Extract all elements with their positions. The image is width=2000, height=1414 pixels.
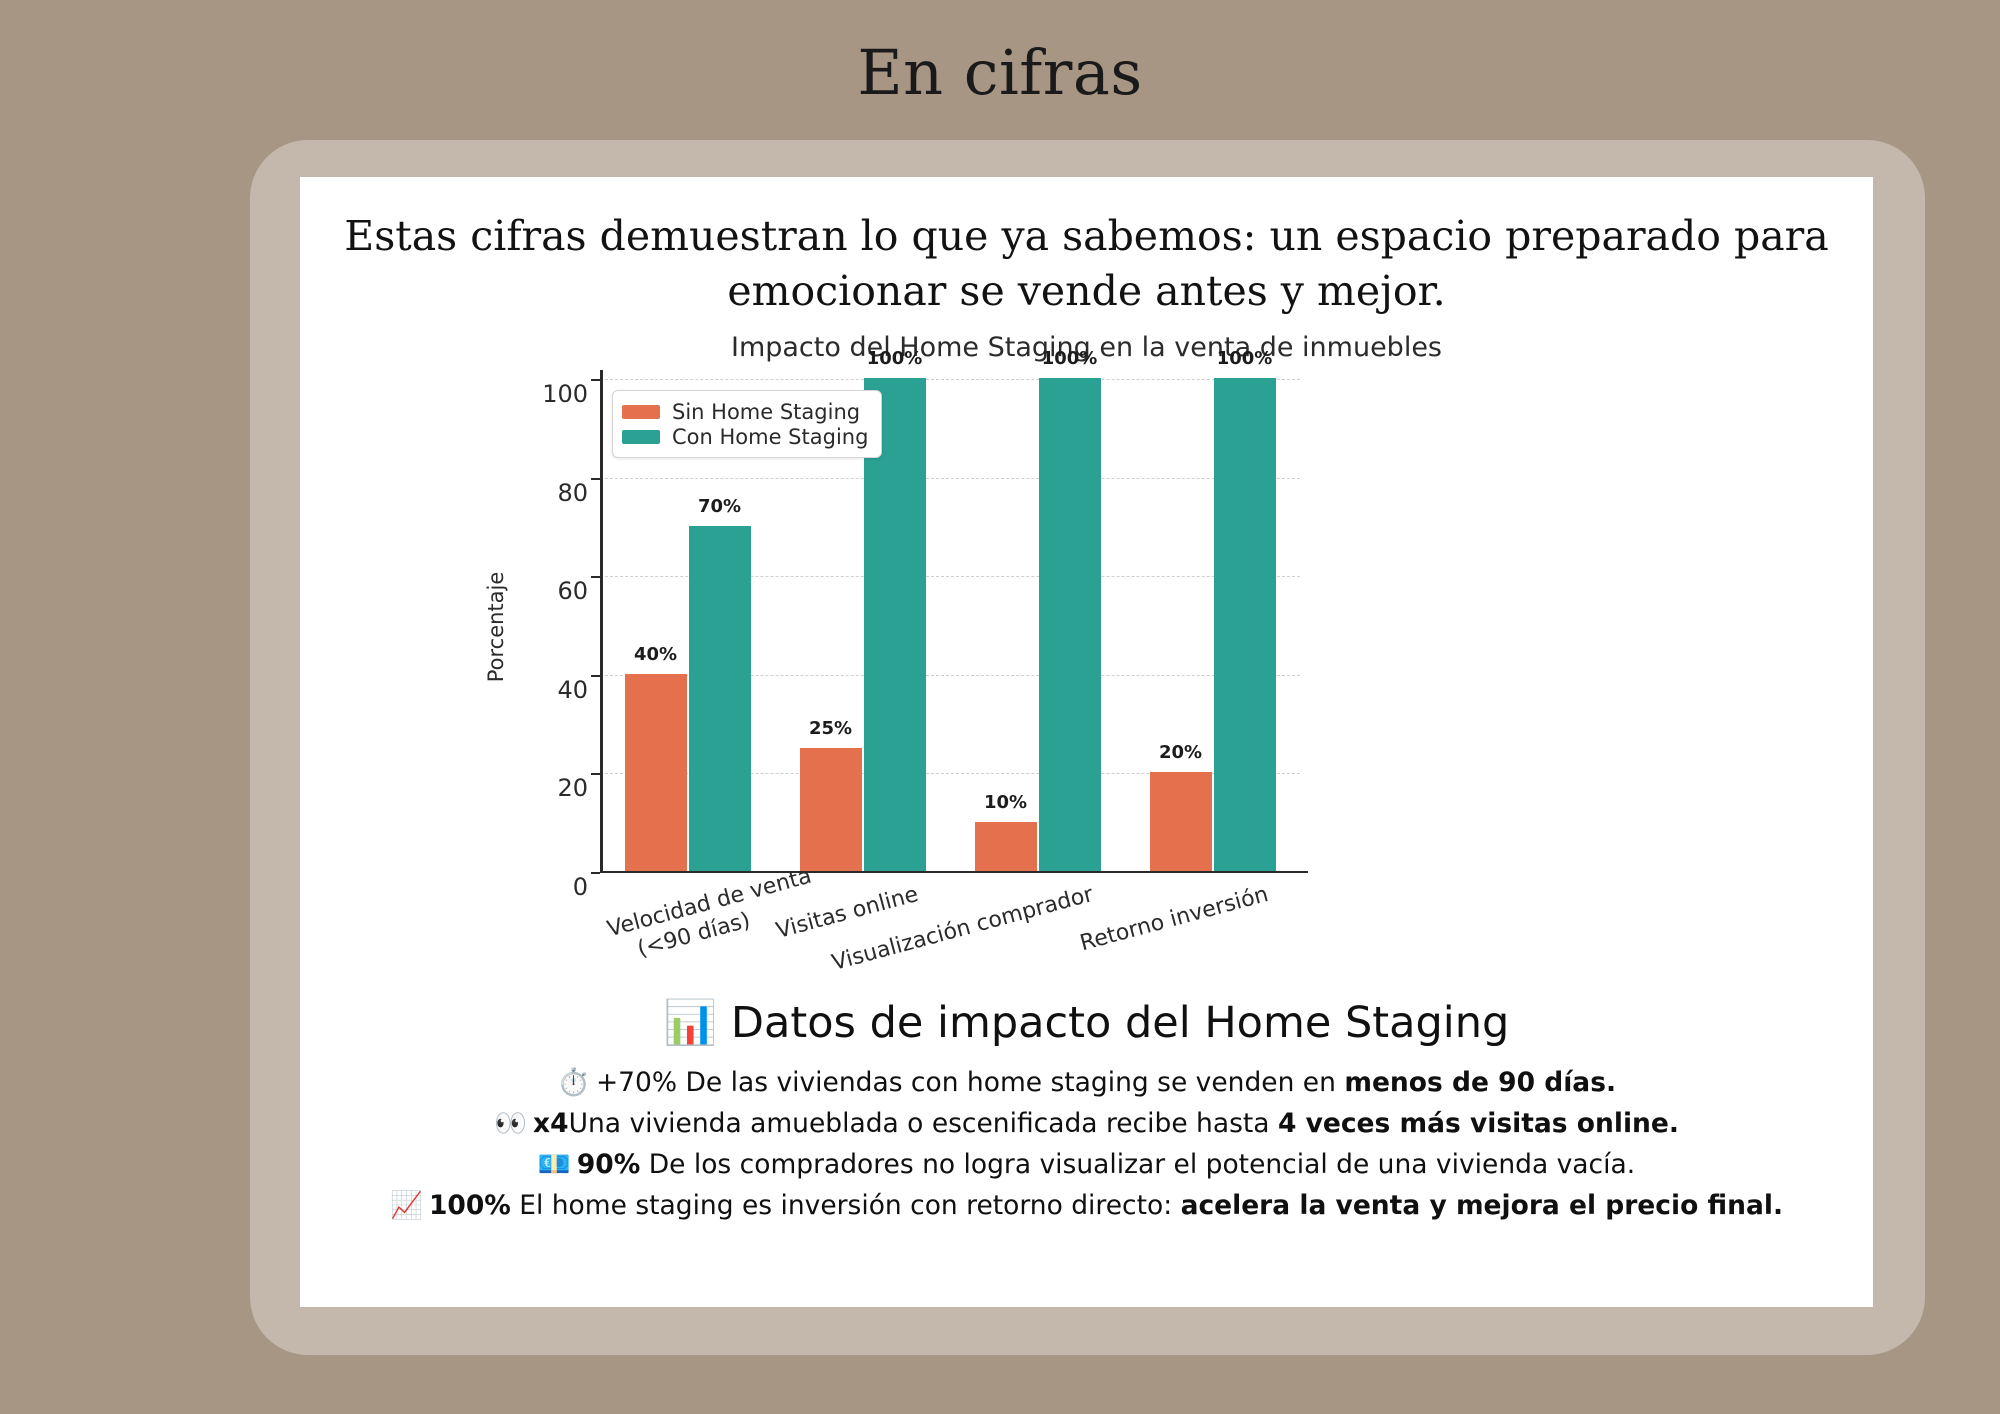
x-axis-spine [600, 871, 1308, 874]
gridline [600, 379, 1300, 380]
fact-lead-value: +70% [596, 1067, 677, 1098]
legend-label: Con Home Staging [672, 425, 868, 449]
fact-emoji-icon: 💶 [538, 1149, 571, 1180]
bar: 100% [1039, 378, 1101, 871]
legend-swatch-icon [622, 405, 660, 419]
bar: 25% [800, 748, 862, 871]
fact-emphasis: menos de 90 días. [1344, 1067, 1616, 1098]
facts-heading: 📊 Datos de impacto del Home Staging [300, 997, 1873, 1051]
facts-heading-text: Datos de impacto del Home Staging [731, 998, 1509, 1048]
lede-text: Estas cifras demuestran lo que ya sabemo… [340, 209, 1833, 318]
facts-list: ⏱️+70% De las viviendas con home staging… [300, 1065, 1873, 1224]
page-title: En cifras [0, 42, 2000, 104]
chart-legend: Sin Home Staging Con Home Staging [612, 390, 882, 458]
y-tick-mark [591, 773, 600, 775]
content-card: Estas cifras demuestran lo que ya sabemo… [300, 177, 1873, 1307]
fact-text: Una vivienda amueblada o escenificada re… [569, 1108, 1278, 1139]
y-axis-label: Porcentaje [484, 571, 508, 682]
bar-value-label: 20% [1159, 742, 1202, 763]
fact-emphasis: 4 veces más visitas online. [1278, 1108, 1679, 1139]
y-tick-mark [591, 478, 600, 480]
fact-emoji-icon: ⏱️ [557, 1067, 590, 1098]
y-tick-mark [591, 576, 600, 578]
bar: 100% [1214, 378, 1276, 871]
fact-line: ⏱️+70% De las viviendas con home staging… [300, 1065, 1873, 1100]
legend-label: Sin Home Staging [672, 400, 860, 424]
facts-section: 📊 Datos de impacto del Home Staging ⏱️+7… [300, 997, 1873, 1230]
bar: 20% [1150, 772, 1212, 871]
fact-lead-value: x4 [533, 1108, 569, 1139]
fact-text: El home staging es inversión con retorno… [511, 1190, 1181, 1221]
legend-swatch-icon [622, 430, 660, 444]
legend-item-con: Con Home Staging [622, 424, 868, 449]
chart-container: Impacto del Home Staging en la venta de … [300, 332, 1873, 982]
fact-emoji-icon: 📈 [390, 1190, 423, 1221]
fact-line: 📈100% El home staging es inversión con r… [300, 1188, 1873, 1223]
fact-line: 💶90% De los compradores no logra visuali… [300, 1147, 1873, 1182]
bar-value-label: 25% [809, 718, 852, 739]
y-tick-mark [591, 675, 600, 677]
fact-emphasis: acelera la venta y mejora el precio fina… [1181, 1190, 1784, 1221]
fact-line: 👀x4Una vivienda amueblada o escenificada… [300, 1106, 1873, 1141]
fact-lead-value: 90% [577, 1149, 640, 1180]
bar-value-label: 100% [1042, 348, 1098, 369]
fact-lead-value: 100% [429, 1190, 511, 1221]
y-tick-mark [591, 872, 600, 874]
bar: 10% [975, 822, 1037, 871]
legend-item-sin: Sin Home Staging [622, 399, 868, 424]
bar-value-label: 70% [698, 496, 741, 517]
fact-text: De las viviendas con home staging se ven… [677, 1067, 1344, 1098]
y-tick-mark [591, 379, 600, 381]
y-axis-spine [600, 370, 603, 873]
bar-chart-icon: 📊 [664, 998, 718, 1048]
fact-text: De los compradores no logra visualizar e… [640, 1149, 1635, 1180]
bar-value-label: 100% [867, 348, 923, 369]
gridline [600, 478, 1300, 479]
fact-emoji-icon: 👀 [494, 1108, 527, 1139]
chart-plot-area: 020406080100 Porcentaje 40%70%25%100%10%… [600, 380, 1300, 873]
bar-value-label: 100% [1217, 348, 1273, 369]
bar-value-label: 10% [984, 792, 1027, 813]
bar: 40% [625, 674, 687, 871]
bar-value-label: 40% [634, 644, 677, 665]
bar: 70% [689, 526, 751, 871]
